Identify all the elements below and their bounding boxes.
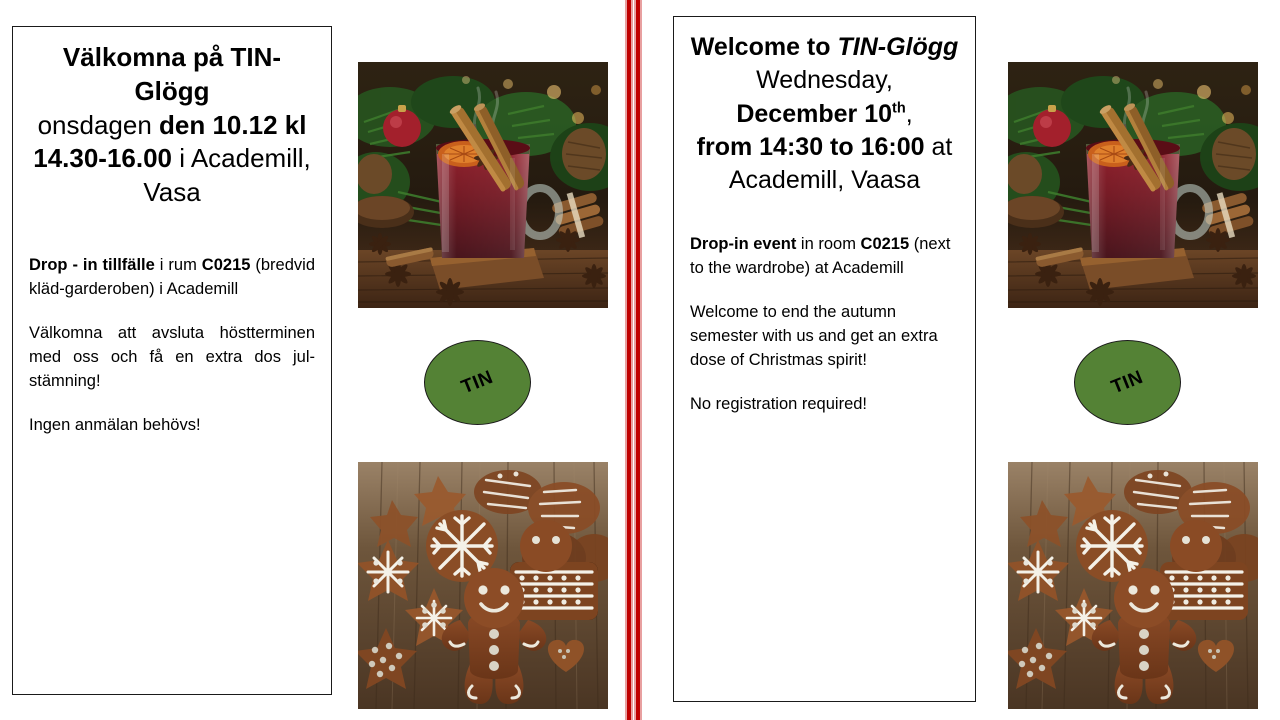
swedish-paragraph-dropin: Drop - in tillfälle i rum C0215 (bredvid… <box>29 254 315 302</box>
english-headline-comma: , <box>906 100 913 128</box>
swedish-headline-day: onsdagen <box>38 110 159 140</box>
english-text-panel: Welcome to TIN-GlöggWednesday, December … <box>673 16 976 702</box>
swedish-paragraph-registration: Ingen anmälan behövs! <box>29 414 315 438</box>
center-divider <box>625 0 643 720</box>
swedish-paragraph-invite: Välkomna att avsluta höstterminen med os… <box>29 322 315 394</box>
english-headline: Welcome to TIN-GlöggWednesday, December … <box>690 31 959 197</box>
tin-badge-right: TIN <box>1074 340 1181 425</box>
english-headline-spacer <box>690 203 959 233</box>
swedish-dropin-mid: i rum <box>155 256 202 274</box>
swedish-headline: Välkomna på TIN-Glöggonsdagen den 10.12 … <box>29 41 315 210</box>
english-room-number: C0215 <box>861 235 910 253</box>
english-headline-day: Wednesday, <box>756 66 893 94</box>
divider-edge-line-4 <box>640 0 642 720</box>
swedish-room-number: C0215 <box>202 256 251 274</box>
mulled-wine-photo-left <box>358 62 608 308</box>
english-headline-time: from 14:30 to 16:00 <box>697 133 925 161</box>
english-headline-welcome: Welcome to <box>691 33 838 61</box>
english-headline-brand: TIN-Glögg <box>837 33 958 61</box>
english-headline-date: December 10 <box>736 100 892 128</box>
swedish-dropin-bold: Drop - in tillfälle <box>29 256 155 274</box>
english-headline-ordinal: th <box>892 100 906 128</box>
swedish-headline-spacer <box>29 216 315 254</box>
ordinal-suffix: th <box>892 100 906 116</box>
swedish-paragraph-spacer-2 <box>29 394 315 414</box>
swedish-paragraph-spacer-1 <box>29 302 315 322</box>
english-paragraph-spacer-2 <box>690 373 959 393</box>
english-dropin-bold: Drop-in event <box>690 235 796 253</box>
english-paragraph-dropin: Drop-in event in room C0215 (next to the… <box>690 233 959 281</box>
tin-badge-left: TIN <box>424 340 531 425</box>
english-paragraph-invite: Welcome to end the autumn semester with … <box>690 301 959 373</box>
mulled-wine-photo-right <box>1008 62 1258 308</box>
english-paragraph-registration: No registration required! <box>690 393 959 417</box>
gingerbread-photo-left <box>358 462 608 709</box>
english-dropin-mid: in room <box>796 235 860 253</box>
english-paragraph-spacer-1 <box>690 281 959 301</box>
swedish-headline-title: Välkomna på TIN-Glögg <box>63 42 281 106</box>
gingerbread-photo-right <box>1008 462 1258 709</box>
swedish-text-panel: Välkomna på TIN-Glöggonsdagen den 10.12 … <box>12 26 332 695</box>
divider-edge-line-2 <box>631 0 633 720</box>
